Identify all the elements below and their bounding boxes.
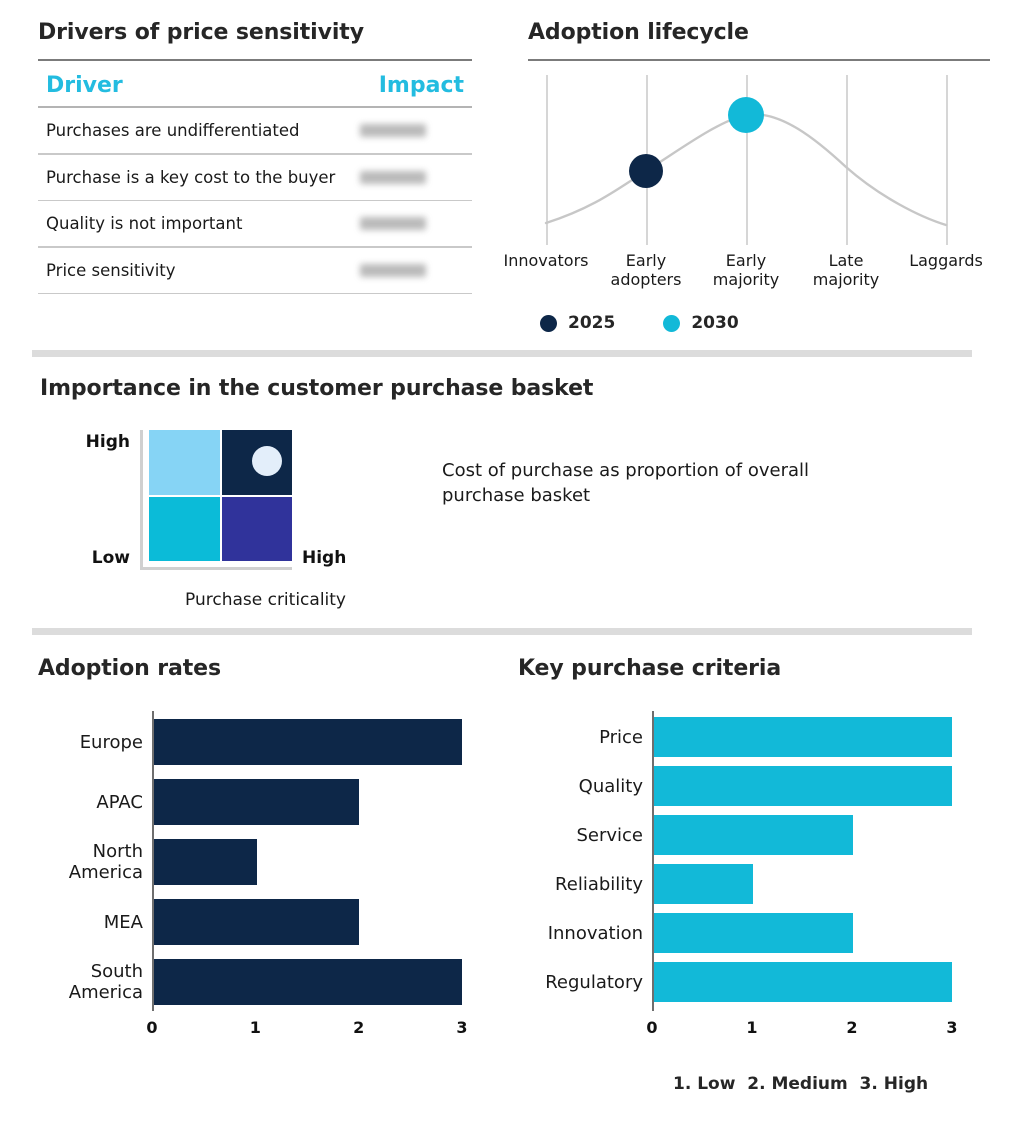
x-label-early-adopters: Earlyadopters	[591, 251, 701, 289]
bar-row[interactable]: Europe	[154, 719, 462, 765]
panel-divider	[528, 59, 990, 61]
cell-impact-redacted	[360, 124, 426, 137]
lifecycle-legend: 2025 2030	[540, 313, 739, 333]
table-row[interactable]: Price sensitivity	[38, 248, 472, 293]
legend-item-2025[interactable]: 2025	[540, 313, 615, 333]
bar[interactable]	[654, 717, 952, 757]
bar-row[interactable]: Service	[654, 815, 952, 855]
quadrant-high-high[interactable]	[222, 430, 293, 495]
bar-label: SouthAmerica	[0, 961, 143, 1003]
key-purchase-criteria-panel: Key purchase criteria Price Quality Serv…	[518, 656, 988, 1042]
x-label-early-majority: Earlymajority	[691, 251, 801, 289]
cell-driver: Purchase is a key cost to the buyer	[46, 168, 335, 187]
key-purchase-criteria-title: Key purchase criteria	[518, 656, 988, 681]
section-divider-band	[32, 628, 972, 635]
row-divider	[38, 293, 472, 295]
bar[interactable]	[654, 766, 952, 806]
bar-row[interactable]: Regulatory	[654, 962, 952, 1002]
quadrant-low-high[interactable]	[149, 430, 220, 495]
bar-label: Service	[493, 825, 643, 846]
bar-label: MEA	[0, 912, 143, 933]
x-label-late-majority: Latemajority	[791, 251, 901, 289]
quadrant-low-low[interactable]	[149, 497, 220, 562]
matrix-chart: High Low High	[140, 430, 292, 570]
bar[interactable]	[154, 719, 462, 765]
matrix-note-text: Cost of purchase as proportion of overal…	[442, 458, 842, 508]
cell-driver: Purchases are undifferentiated	[46, 121, 299, 140]
table-row[interactable]: Purchase is a key cost to the buyer	[38, 155, 472, 200]
matrix-panel-title: Importance in the customer purchase bask…	[40, 376, 593, 401]
cell-impact-redacted	[360, 171, 426, 184]
section-divider-band	[32, 350, 972, 357]
x-tick: 3	[946, 1018, 957, 1037]
cell-driver: Price sensitivity	[46, 261, 176, 280]
bar-label: Regulatory	[493, 972, 643, 993]
bar-label: APAC	[0, 792, 143, 813]
infographic-page: Drivers of price sensitivity Driver Impa…	[0, 0, 1026, 1124]
bar[interactable]	[154, 899, 359, 945]
bar-row[interactable]: NorthAmerica	[154, 839, 462, 885]
lifecycle-curve	[528, 75, 990, 247]
matrix-x-axis-title: Purchase criticality	[185, 590, 346, 610]
bar-label: NorthAmerica	[0, 841, 143, 883]
legend-dot-icon	[663, 315, 680, 332]
drivers-panel-title: Drivers of price sensitivity	[38, 20, 472, 45]
cell-impact-redacted	[360, 264, 426, 277]
bar[interactable]	[654, 815, 853, 855]
plot-area: Price Quality Service Reliability	[652, 711, 952, 1011]
x-axis: 0 1 2 3	[152, 1016, 462, 1042]
lifecycle-x-labels: Innovators Earlyadopters Earlymajority L…	[528, 251, 990, 297]
x-tick: 1	[250, 1018, 261, 1037]
bar-row[interactable]: SouthAmerica	[154, 959, 462, 1005]
section-top: Drivers of price sensitivity Driver Impa…	[0, 0, 1026, 345]
table-row[interactable]: Quality is not important	[38, 201, 472, 246]
table-row[interactable]: Purchases are undifferentiated	[38, 108, 472, 153]
lifecycle-panel-title: Adoption lifecycle	[528, 20, 990, 45]
drivers-table-header: Driver Impact	[38, 61, 472, 106]
adoption-rates-chart: Europe APAC NorthAmerica MEA	[152, 711, 462, 1042]
legend-label: 2030	[691, 313, 738, 333]
x-tick: 3	[456, 1018, 467, 1037]
x-axis: 0 1 2 3	[652, 1016, 952, 1042]
marker-2030[interactable]	[728, 97, 764, 133]
x-tick: 0	[146, 1018, 157, 1037]
marker-2025[interactable]	[629, 154, 663, 188]
legend-item-2030[interactable]: 2030	[663, 313, 738, 333]
legend-dot-icon	[540, 315, 557, 332]
x-tick: 2	[846, 1018, 857, 1037]
bar-row[interactable]: MEA	[154, 899, 462, 945]
bar-label: Innovation	[493, 923, 643, 944]
adoption-rates-panel: Adoption rates Europe APAC NorthAmerica	[38, 656, 488, 1042]
key-purchase-criteria-chart: Price Quality Service Reliability	[652, 711, 952, 1042]
column-header-driver: Driver	[46, 73, 123, 98]
bar[interactable]	[654, 962, 952, 1002]
adoption-lifecycle-chart: Innovators Earlyadopters Earlymajority L…	[528, 75, 990, 275]
legend-label: 2025	[568, 313, 615, 333]
drivers-table: Driver Impact Purchases are undifferenti…	[38, 61, 472, 294]
plot-area: Europe APAC NorthAmerica MEA	[152, 711, 462, 1011]
adoption-rates-title: Adoption rates	[38, 656, 488, 681]
bar[interactable]	[654, 913, 853, 953]
bar-row[interactable]: Quality	[654, 766, 952, 806]
lifecycle-panel: Adoption lifecycle Innovators Earlyadopt…	[528, 20, 990, 275]
bar[interactable]	[154, 839, 257, 885]
bar-label: Price	[493, 727, 643, 748]
bar-label: Quality	[493, 776, 643, 797]
quadrant-high-low[interactable]	[222, 497, 293, 562]
criteria-scale-note: 1. Low 2. Medium 3. High	[673, 1074, 928, 1094]
drivers-panel: Drivers of price sensitivity Driver Impa…	[38, 20, 472, 294]
bar-label: Reliability	[493, 874, 643, 895]
quadrant-grid	[140, 430, 292, 570]
bar[interactable]	[154, 959, 462, 1005]
bar-row[interactable]: Price	[654, 717, 952, 757]
x-label-laggards: Laggards	[891, 251, 1001, 270]
x-axis-label-high: High	[302, 548, 346, 568]
column-header-impact: Impact	[379, 73, 464, 98]
bar-label: Europe	[0, 732, 143, 753]
bar-row[interactable]: Reliability	[654, 864, 952, 904]
position-bubble-marker	[252, 446, 282, 476]
x-tick: 2	[353, 1018, 364, 1037]
y-axis-label-high: High	[86, 432, 130, 452]
x-label-innovators: Innovators	[491, 251, 601, 270]
cell-impact-redacted	[360, 217, 426, 230]
cell-driver: Quality is not important	[46, 214, 242, 233]
x-tick: 0	[646, 1018, 657, 1037]
bar-row[interactable]: APAC	[154, 779, 462, 825]
section-bottom: Adoption rates Europe APAC NorthAmerica	[0, 648, 1026, 1124]
x-tick: 1	[746, 1018, 757, 1037]
bar[interactable]	[154, 779, 359, 825]
y-axis-label-low: Low	[92, 548, 130, 568]
bar-row[interactable]: Innovation	[654, 913, 952, 953]
bar[interactable]	[654, 864, 753, 904]
